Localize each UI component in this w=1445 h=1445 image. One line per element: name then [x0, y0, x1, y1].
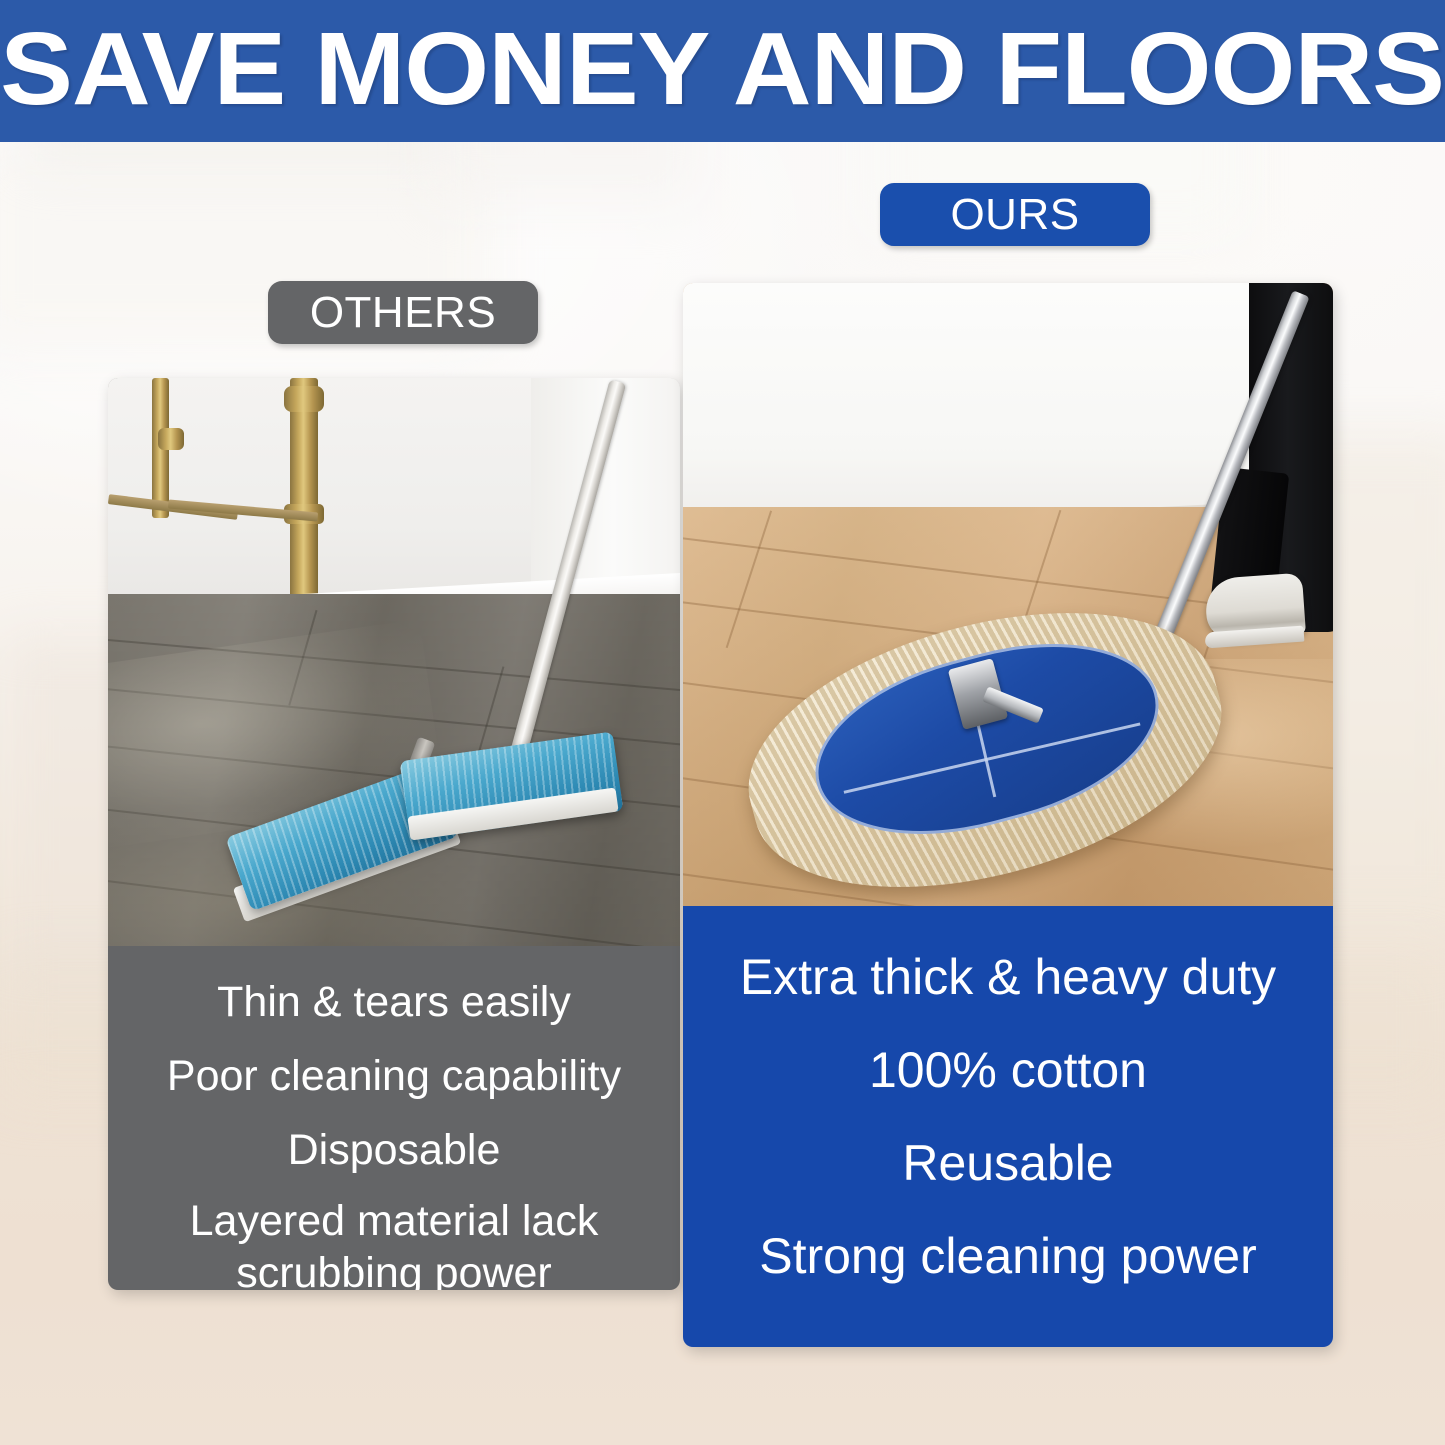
list-item: Disposable: [126, 1120, 662, 1180]
badge-ours-label: OURS: [950, 190, 1079, 240]
others-feature-list: Thin & tears easily Poor cleaning capabi…: [126, 972, 662, 1290]
others-feature-panel: Thin & tears easily Poor cleaning capabi…: [108, 946, 680, 1290]
photo-floor-seam: [726, 511, 772, 648]
list-item: Poor cleaning capability: [126, 1046, 662, 1106]
ours-product-photo: [683, 283, 1333, 906]
ours-feature-panel: Extra thick & heavy duty 100% cotton Reu…: [683, 906, 1333, 1347]
photo-floor-seam: [1022, 510, 1061, 624]
list-item: Reusable: [705, 1128, 1311, 1199]
list-item: Thin & tears easily: [126, 972, 662, 1032]
list-item: Extra thick & heavy duty: [705, 942, 1311, 1013]
comparison-card-ours: Extra thick & heavy duty 100% cotton Reu…: [683, 283, 1333, 1347]
list-item: Layered material lack scrubbing power: [126, 1195, 662, 1290]
status-badge-ours: OURS: [880, 183, 1150, 246]
badge-others-label: OTHERS: [310, 288, 496, 338]
ours-feature-list: Extra thick & heavy duty 100% cotton Reu…: [705, 942, 1311, 1292]
page-title: SAVE MONEY AND FLOORS: [1, 17, 1445, 126]
comparison-card-others: Thin & tears easily Poor cleaning capabi…: [108, 378, 680, 1290]
list-item: 100% cotton: [705, 1035, 1311, 1106]
header-banner: SAVE MONEY AND FLOORS: [0, 0, 1445, 142]
others-product-photo: [108, 378, 680, 946]
photo-table-leg-knob: [284, 386, 324, 412]
status-badge-others: OTHERS: [268, 281, 538, 344]
photo-table-leg: [290, 378, 318, 628]
list-item: Strong cleaning power: [705, 1221, 1311, 1292]
photo-table-leg-knob: [158, 428, 184, 450]
